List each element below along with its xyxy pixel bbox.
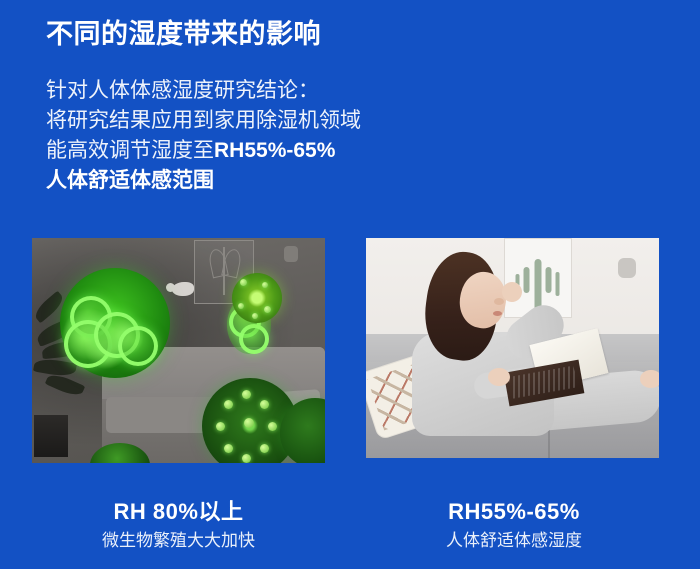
mold-spore bbox=[264, 306, 271, 313]
cactus-artwork bbox=[535, 259, 542, 311]
caption-title: RH 80%以上 bbox=[32, 498, 325, 526]
mold-spore bbox=[268, 422, 277, 431]
mold-spore bbox=[262, 282, 268, 288]
intro-line-3: 能高效调节湿度至RH55%-65% bbox=[46, 136, 361, 166]
wall-sensor bbox=[618, 258, 636, 278]
person-lips bbox=[493, 311, 502, 316]
mold-blob bbox=[118, 326, 158, 366]
photo-high-humidity bbox=[32, 238, 325, 463]
mold-blob bbox=[239, 324, 269, 354]
mold-cluster-large bbox=[60, 268, 170, 378]
mold-spore bbox=[224, 444, 233, 453]
intro-paragraph: 针对人体体感湿度研究结论： 将研究结果应用到家用除湿机领域 能高效调节湿度至RH… bbox=[46, 76, 361, 196]
intro-line-2: 将研究结果应用到家用除湿机领域 bbox=[46, 106, 361, 136]
mold-spore bbox=[244, 418, 254, 428]
intro-line-3-prefix: 能高效调节湿度至 bbox=[46, 139, 214, 162]
mold-spore bbox=[216, 422, 225, 431]
mold-spore bbox=[260, 400, 269, 409]
page-title: 不同的湿度带来的影响 bbox=[46, 18, 321, 50]
caption-subtitle: 微生物繁殖大大加快 bbox=[32, 528, 325, 554]
mold-spore bbox=[252, 313, 258, 319]
caption-subtitle: 人体舒适体感湿度 bbox=[366, 528, 662, 554]
person-nose bbox=[494, 298, 504, 305]
person-hand-holding-book bbox=[488, 368, 510, 386]
mold-spore bbox=[240, 279, 247, 286]
wall-art-branch bbox=[223, 247, 225, 295]
photo-comfort-humidity bbox=[366, 238, 659, 458]
mold-spore bbox=[242, 454, 251, 463]
caption-high-humidity: RH 80%以上 微生物繁殖大大加快 bbox=[32, 498, 325, 554]
intro-line-4: 人体舒适体感范围 bbox=[46, 166, 361, 196]
caption-comfort-humidity: RH55%-65% 人体舒适体感湿度 bbox=[366, 498, 662, 554]
poster-root: 不同的湿度带来的影响 针对人体体感湿度研究结论： 将研究结果应用到家用除湿机领域… bbox=[0, 0, 700, 569]
mold-sphere-top bbox=[232, 273, 282, 323]
wall-switch bbox=[284, 246, 298, 262]
plant-pot bbox=[34, 415, 68, 457]
caption-title: RH55%-65% bbox=[366, 498, 662, 526]
mold-spore bbox=[242, 390, 251, 399]
intro-line-3-highlight: RH55%-65% bbox=[214, 139, 335, 162]
person-foot bbox=[640, 370, 659, 388]
mold-spore bbox=[238, 303, 244, 309]
intro-line-1: 针对人体体感湿度研究结论： bbox=[46, 76, 361, 106]
mold-spore bbox=[224, 400, 233, 409]
mold-spore bbox=[260, 444, 269, 453]
bird-ornament bbox=[172, 282, 194, 296]
